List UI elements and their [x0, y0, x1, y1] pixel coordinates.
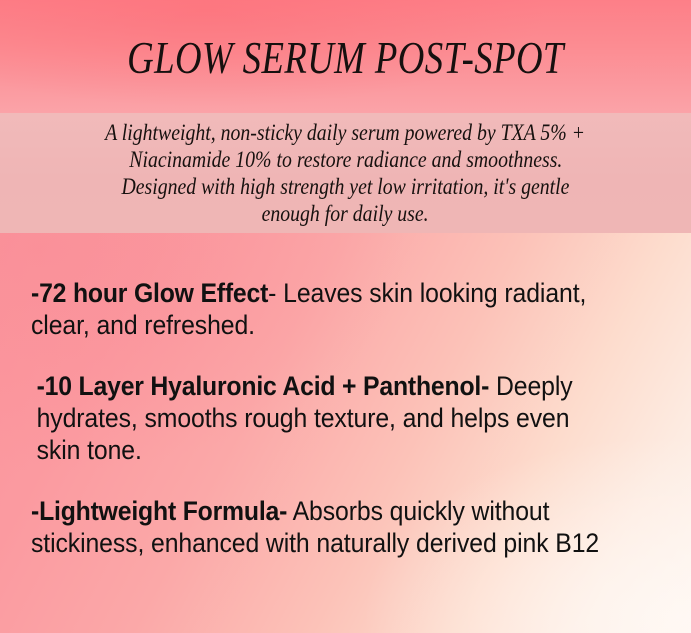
- description-line-3: Designed with high strength yet low irri…: [122, 173, 570, 200]
- feature-item: -Lightweight Formula- Absorbs quickly wi…: [31, 495, 616, 559]
- feature-lead: -10 Layer Hyaluronic Acid + Panthenol-: [37, 371, 490, 401]
- product-description: A lightweight, non-sticky daily serum po…: [0, 113, 691, 233]
- feature-lead: -Lightweight Formula-: [31, 496, 287, 526]
- page-title: GLOW SERUM POST-SPOT: [69, 0, 622, 113]
- feature-item: -10 Layer Hyaluronic Acid + Panthenol- D…: [31, 370, 616, 466]
- feature-lead: -72 hour Glow Effect: [31, 278, 268, 308]
- description-line-2: Niacinamide 10% to restore radiance and …: [129, 146, 562, 173]
- description-line-1: A lightweight, non-sticky daily serum po…: [106, 119, 586, 146]
- product-poster: GLOW SERUM POST-SPOT A lightweight, non-…: [0, 0, 691, 633]
- feature-item: -72 hour Glow Effect- Leaves skin lookin…: [31, 277, 616, 341]
- features-list: -72 hour Glow Effect- Leaves skin lookin…: [0, 233, 691, 633]
- description-line-4: enough for daily use.: [262, 200, 429, 227]
